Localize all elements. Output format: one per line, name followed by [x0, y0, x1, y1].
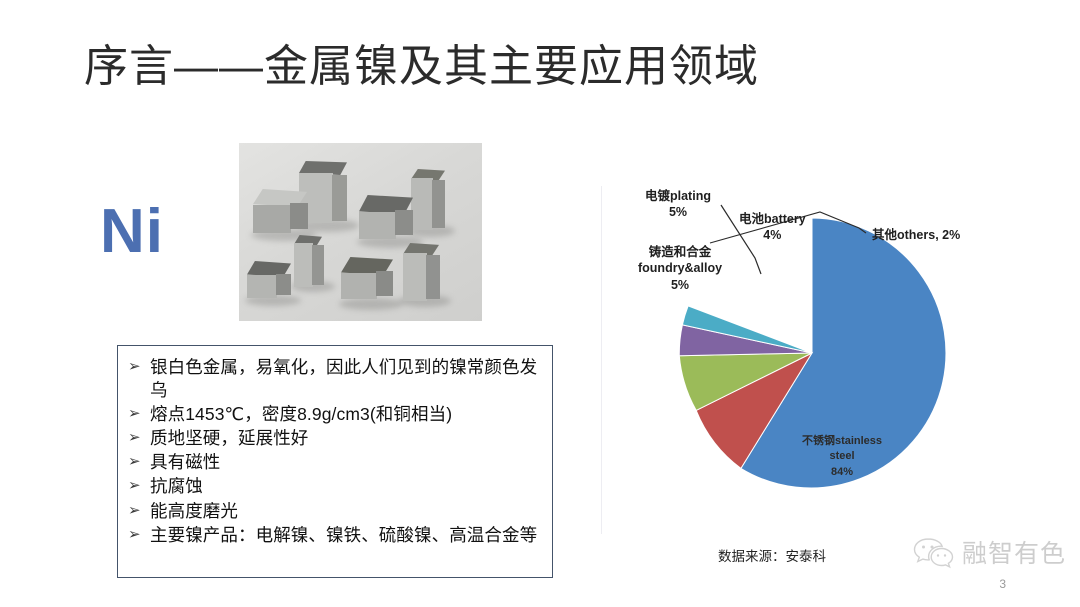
list-item: ➢ 具有磁性: [128, 451, 546, 474]
bullet-arrow-icon: ➢: [128, 403, 150, 425]
bullet-arrow-icon: ➢: [128, 451, 150, 473]
data-source-note: 数据来源：安泰科: [718, 545, 826, 565]
bullet-arrow-icon: ➢: [128, 427, 150, 449]
list-item: ➢ 抗腐蚀: [128, 475, 546, 498]
pie-callout-plating: 电镀plating 5%: [645, 188, 711, 221]
bullet-arrow-icon: ➢: [128, 475, 150, 497]
pie-inner-label-line2: steel: [829, 450, 854, 462]
list-item: ➢ 主要镍产品：电解镍、镍铁、硫酸镍、高温合金等: [128, 524, 546, 547]
bullet-arrow-icon: ➢: [128, 356, 150, 378]
bullet-arrow-icon: ➢: [128, 524, 150, 546]
pie-callout-plating-value: 5%: [645, 204, 711, 220]
list-item: ➢ 能高度磨光: [128, 500, 546, 523]
pie-callout-plating-name: 电镀plating: [645, 188, 711, 204]
pie-callout-foundry-value: 5%: [638, 277, 722, 293]
pie-callout-battery: 电池battery 4%: [739, 211, 806, 244]
list-item: ➢ 熔点1453℃，密度8.9g/cm3(和铜相当): [128, 403, 546, 426]
watermark: 融智有色: [913, 534, 1066, 570]
pie-callout-others: 其他others, 2%: [872, 227, 960, 243]
list-item: ➢ 质地坚硬，延展性好: [128, 427, 546, 450]
nickel-metal-blocks-photo: [239, 143, 482, 321]
pie-callout-battery-value: 4%: [739, 227, 806, 243]
nickel-block: [245, 261, 297, 303]
pie-callout-foundry-alloy: 铸造和合金 foundry&alloy 5%: [638, 244, 722, 293]
nickel-properties-box: ➢ 银白色金属，易氧化，因此人们见到的镍常颜色发乌 ➢ 熔点1453℃，密度8.…: [117, 345, 553, 578]
pie-callout-battery-name: 电池battery: [739, 211, 806, 227]
nickel-block: [251, 189, 313, 239]
nickel-symbol-wordmark: Ni: [100, 196, 164, 267]
pie-callout-foundry-name-en: foundry&alloy: [638, 260, 722, 276]
nickel-block: [399, 243, 447, 305]
bullet-arrow-icon: ➢: [128, 500, 150, 522]
wechat-icon: [913, 535, 955, 569]
nickel-block: [339, 257, 399, 307]
nickel-block: [357, 195, 419, 245]
watermark-label: 融智有色: [962, 534, 1066, 570]
list-item: ➢ 银白色金属，易氧化，因此人们见到的镍常颜色发乌: [128, 356, 546, 402]
pie-inner-label-line3: 84%: [831, 466, 853, 478]
pie-callout-foundry-name-cn: 铸造和合金: [638, 244, 722, 260]
page-title: 序言——金属镍及其主要应用领域: [84, 42, 759, 93]
page-number: 3: [999, 577, 1006, 591]
pie-inner-label-line1: 不锈钢stainless: [802, 433, 882, 447]
